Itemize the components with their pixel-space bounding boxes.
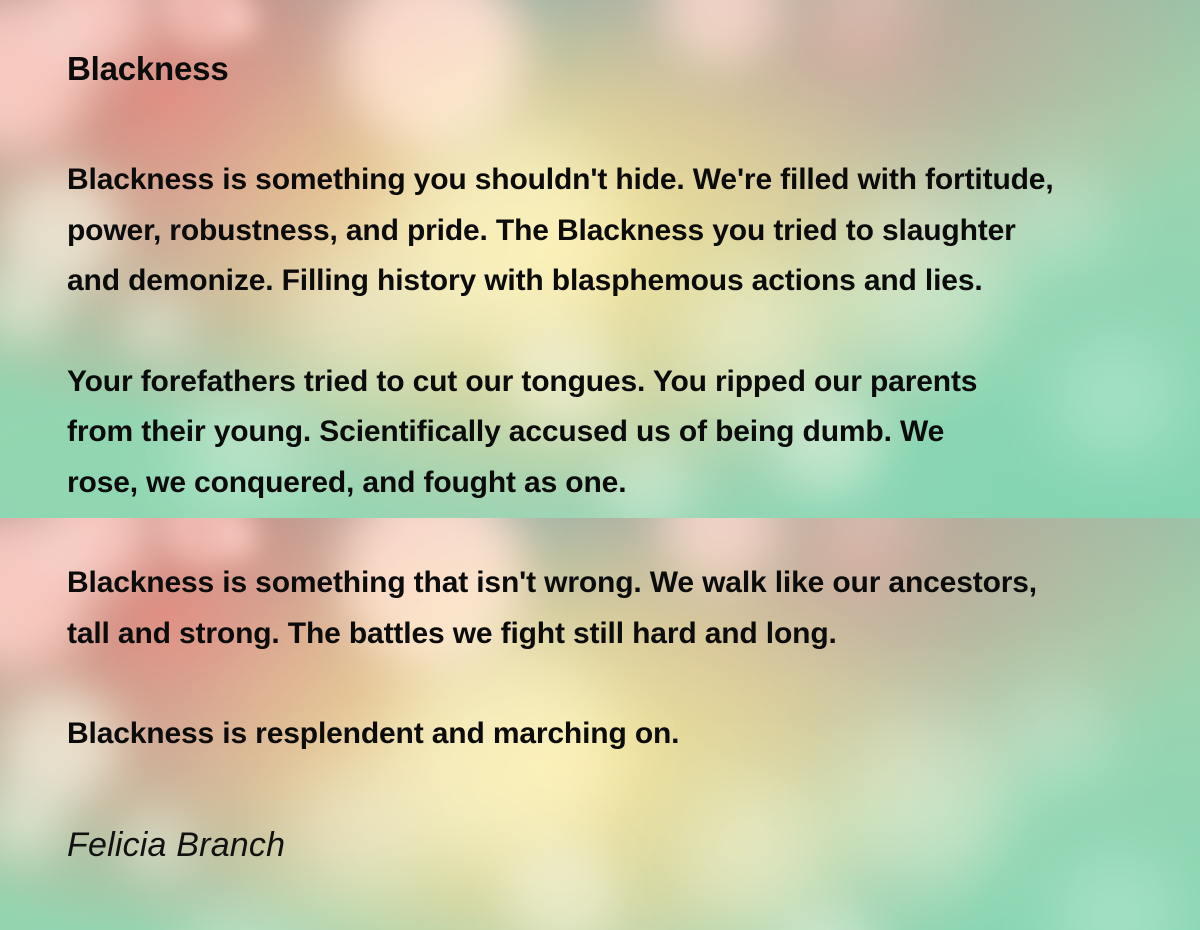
poem-stanza: Blackness is something you shouldn't hid… bbox=[67, 155, 1157, 307]
poem-line: Your forefathers tried to cut our tongue… bbox=[67, 357, 1157, 408]
poem-line: Blackness is something you shouldn't hid… bbox=[67, 155, 1157, 206]
poem-author: Felicia Branch bbox=[67, 826, 285, 865]
poem-line: power, robustness, and pride. The Blackn… bbox=[67, 206, 1157, 257]
poem-line: Blackness is something that isn't wrong.… bbox=[67, 558, 1157, 609]
poem-stanza: Blackness is resplendent and marching on… bbox=[67, 709, 1157, 760]
poem-line: from their young. Scientifically accused… bbox=[67, 407, 1157, 458]
poem-line: rose, we conquered, and fought as one. bbox=[67, 458, 1157, 509]
poem-stanza: Your forefathers tried to cut our tongue… bbox=[67, 357, 1157, 509]
poem-line: and demonize. Filling history with blasp… bbox=[67, 256, 1157, 307]
poem-line: tall and strong. The battles we fight st… bbox=[67, 609, 1157, 660]
poem-body: Blackness is something you shouldn't hid… bbox=[67, 155, 1157, 810]
poem-line: Blackness is resplendent and marching on… bbox=[67, 709, 1157, 760]
poem-text-layer: Blackness Blackness is something you sho… bbox=[0, 0, 1200, 930]
poem-stanza: Blackness is something that isn't wrong.… bbox=[67, 558, 1157, 659]
page-title: Blackness bbox=[67, 50, 228, 88]
poem-card: Blackness Blackness is something you sho… bbox=[0, 0, 1200, 930]
